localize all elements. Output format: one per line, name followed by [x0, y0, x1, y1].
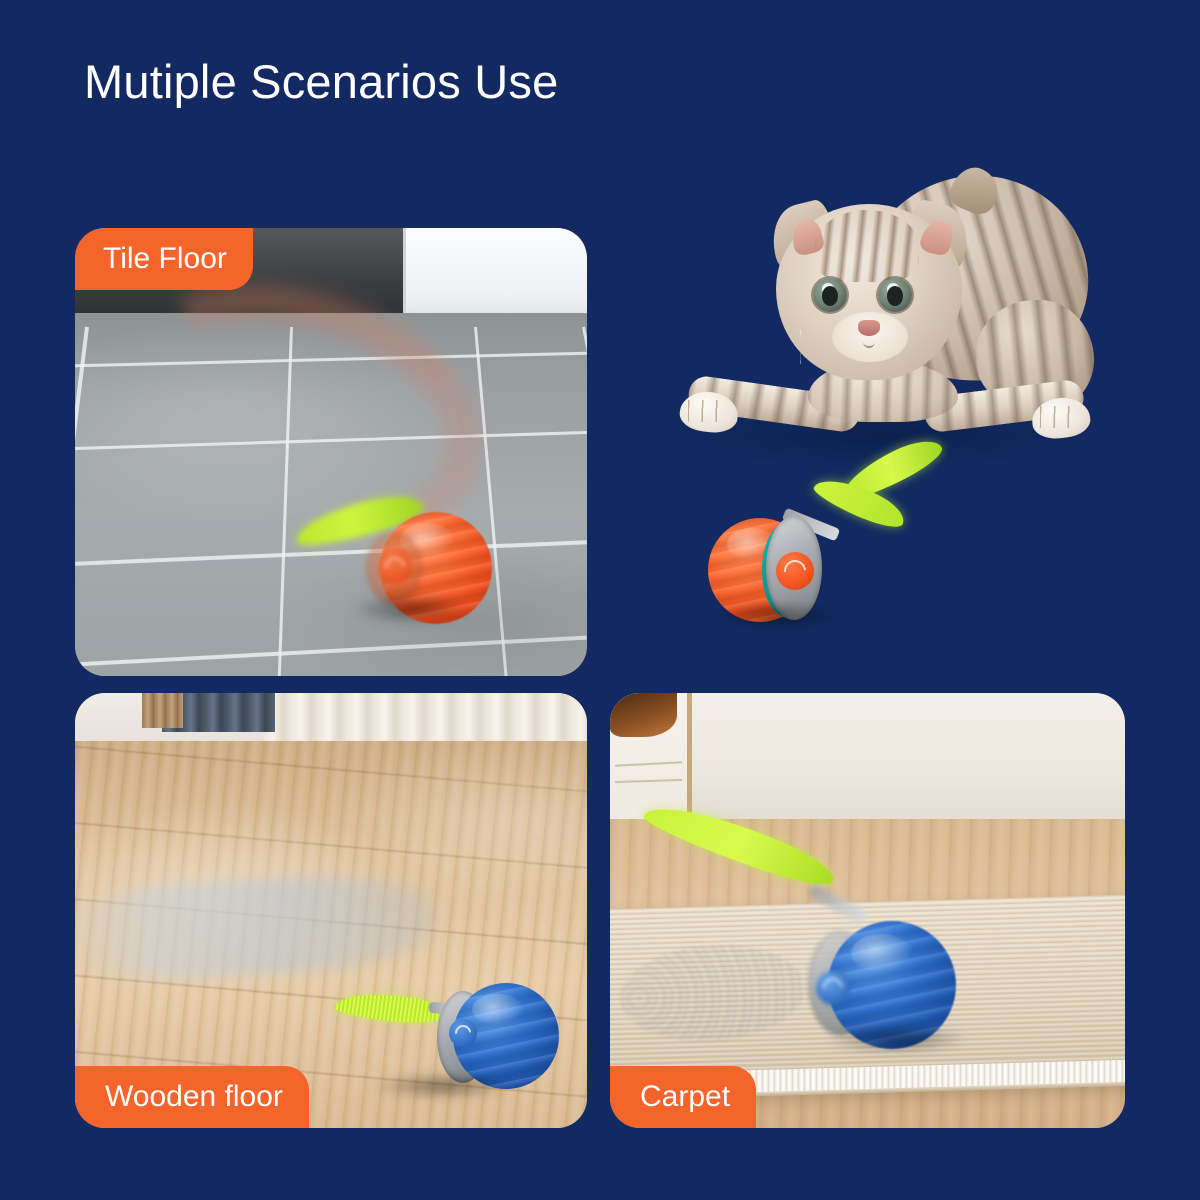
- toy-ball-blue: [345, 973, 535, 1103]
- ball-button: [816, 971, 850, 1005]
- swirl-logo-icon: [779, 555, 810, 586]
- cat-pupil-right: [887, 286, 903, 306]
- toy-shadow: [712, 602, 842, 628]
- toy-ball-orange: [330, 498, 500, 628]
- hero-toy-ball-orange: [708, 460, 948, 630]
- panel-label-text: Wooden floor: [105, 1082, 283, 1112]
- ball-button: [776, 552, 814, 590]
- toy-shadow: [352, 594, 472, 624]
- panel-label-wood: Wooden floor: [75, 1066, 309, 1128]
- infographic-canvas: Mutiple Scenarios Use: [0, 0, 1200, 1200]
- toy-ball-blue: [630, 813, 960, 1063]
- scenario-panel-tile: Tile Floor: [75, 228, 587, 676]
- swirl-logo-icon: [381, 553, 409, 581]
- panel-label-text: Carpet: [640, 1082, 730, 1112]
- kitten-illustration: [680, 170, 1100, 470]
- panel-label-text: Tile Floor: [103, 244, 227, 274]
- cat-toes-left: [688, 400, 732, 422]
- tile-cabinet: [403, 228, 587, 327]
- swirl-logo-icon: [452, 1022, 475, 1045]
- panel-label-tile: Tile Floor: [75, 228, 253, 290]
- wood-curtain-tan: [142, 693, 183, 728]
- cat-forehead-stripes: [815, 210, 919, 282]
- ball-button: [378, 550, 412, 584]
- toy-shadow: [826, 1025, 966, 1053]
- picture-frame-art: [610, 693, 677, 737]
- toy-shadow: [373, 1073, 513, 1099]
- cat-whiskers: [800, 330, 940, 364]
- panel-label-carpet: Carpet: [610, 1066, 756, 1128]
- hero-cat-scene: [650, 170, 1120, 640]
- page-title: Mutiple Scenarios Use: [84, 54, 558, 110]
- cat-toes-right: [1040, 406, 1084, 428]
- ball-button: [449, 1019, 477, 1047]
- swirl-logo-icon: [819, 974, 847, 1002]
- scenario-panel-wood: Wooden floor: [75, 693, 587, 1128]
- toy-stem: [808, 884, 868, 925]
- cat-pupil-left: [822, 286, 838, 306]
- tile-floor-scene: [75, 228, 587, 676]
- scenario-panel-carpet: Carpet: [610, 693, 1125, 1128]
